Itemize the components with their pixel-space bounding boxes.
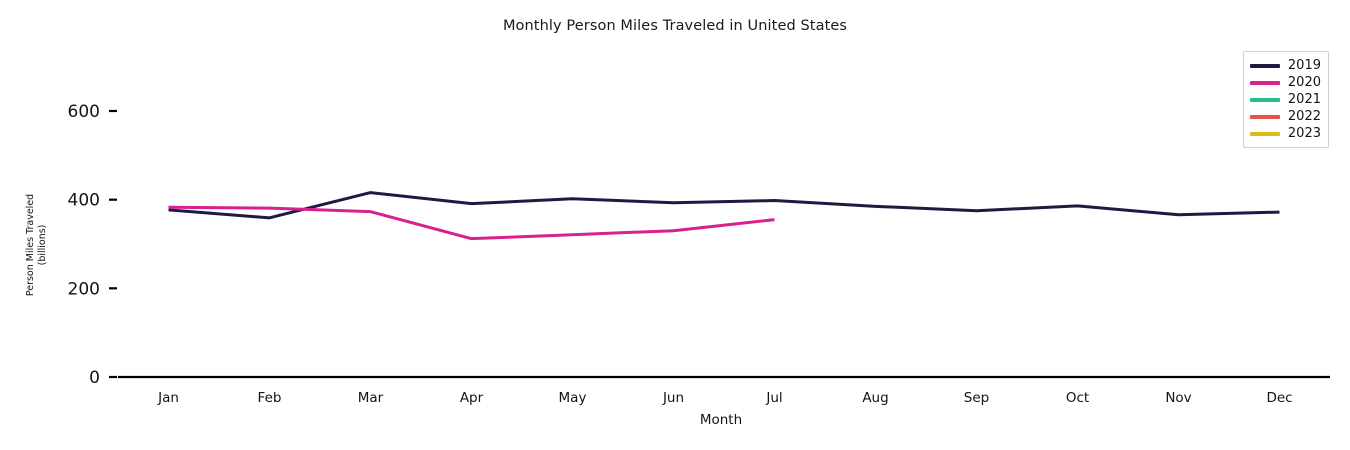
x-axis-tick-label: Sep <box>964 390 989 406</box>
legend-item-label: 2021 <box>1288 93 1321 106</box>
x-axis-tick-label: Feb <box>258 390 282 406</box>
legend-item[interactable]: 2020 <box>1250 74 1321 91</box>
x-axis-title: Month <box>700 412 742 428</box>
legend-color-swatch <box>1250 115 1280 119</box>
x-axis-tick-label: Oct <box>1066 390 1089 406</box>
y-axis-title-line1: Person Miles Traveled <box>25 194 36 296</box>
x-axis-tick-label: Apr <box>460 390 484 406</box>
y-axis-tick-label: 600 <box>68 102 100 122</box>
legend-item[interactable]: 2019 <box>1250 57 1321 74</box>
y-axis-tick-label: 200 <box>68 279 100 299</box>
legend-color-swatch <box>1250 81 1280 85</box>
x-axis-tick-label: May <box>559 390 587 406</box>
x-axis-tick-label: Jul <box>765 390 782 406</box>
y-axis-title: Person Miles Traveled(billions) <box>25 194 48 296</box>
x-axis-tick-label: Jan <box>157 390 179 406</box>
chart-legend: 20192020202120222023 <box>1243 51 1329 148</box>
y-axis-tick-label: 400 <box>68 191 100 211</box>
series-line-2019 <box>169 193 1280 218</box>
legend-item[interactable]: 2022 <box>1250 108 1321 125</box>
legend-color-swatch <box>1250 98 1280 102</box>
legend-color-swatch <box>1250 64 1280 68</box>
chart-figure: Monthly Person Miles Traveled in United … <box>0 0 1350 450</box>
y-axis-title-line2: (billions) <box>37 225 48 266</box>
legend-item[interactable]: 2021 <box>1250 91 1321 108</box>
x-axis-tick-label: Aug <box>862 390 888 406</box>
legend-item-label: 2020 <box>1288 76 1321 89</box>
y-axis-tick-label: 0 <box>89 368 100 388</box>
legend-item[interactable]: 2023 <box>1250 125 1321 142</box>
x-axis-tick-label: Nov <box>1165 390 1191 406</box>
line-chart-plot: 0200400600JanFebMarAprMayJunJulAugSepOct… <box>0 0 1350 450</box>
x-axis-tick-label: Mar <box>358 390 384 406</box>
series-line-2020 <box>169 207 775 238</box>
x-axis-tick-label: Dec <box>1266 390 1292 406</box>
legend-item-label: 2023 <box>1288 127 1321 140</box>
legend-item-label: 2019 <box>1288 59 1321 72</box>
x-axis-tick-label: Jun <box>662 390 684 406</box>
legend-color-swatch <box>1250 132 1280 136</box>
legend-item-label: 2022 <box>1288 110 1321 123</box>
